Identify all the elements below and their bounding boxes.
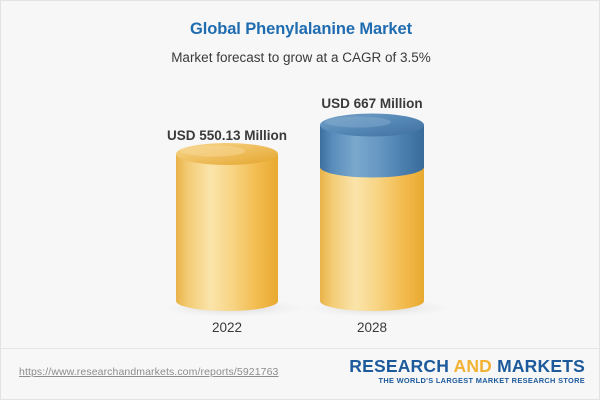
logo-word-markets: MARKETS xyxy=(497,356,585,376)
logo-tagline: THE WORLD'S LARGEST MARKET RESEARCH STOR… xyxy=(349,375,585,385)
logo-wordmark: RESEARCH AND MARKETS xyxy=(349,357,585,375)
footer: https://www.researchandmarkets.com/repor… xyxy=(1,348,600,399)
axis-label-2022: 2022 xyxy=(147,320,307,335)
bar-value-label-2028: USD 667 Million xyxy=(262,96,482,111)
axis-label-2028: 2028 xyxy=(292,320,452,335)
bar-body-base-2028 xyxy=(320,167,424,311)
bar-body-2022 xyxy=(176,154,278,311)
brand-logo[interactable]: RESEARCH AND MARKETS THE WORLD'S LARGEST… xyxy=(349,357,585,386)
bar-cylinder-2022[interactable] xyxy=(176,143,278,311)
bar-top-highlight-2028 xyxy=(325,117,391,128)
bar-top-highlight-2022 xyxy=(181,146,245,157)
infographic-card: Global Phenylalanine Market Market forec… xyxy=(0,0,600,400)
bar-value-label-2022: USD 550.13 Million xyxy=(117,128,337,143)
chart-plot-area: USD 550.13 Million USD 667 Million 2022 … xyxy=(1,1,600,349)
logo-word-and: AND xyxy=(453,356,492,376)
cylinder-bar-chart xyxy=(1,1,600,349)
bar-cylinder-2028[interactable] xyxy=(320,114,424,312)
report-url-link[interactable]: https://www.researchandmarkets.com/repor… xyxy=(19,366,278,378)
logo-word-research: RESEARCH xyxy=(349,356,449,376)
